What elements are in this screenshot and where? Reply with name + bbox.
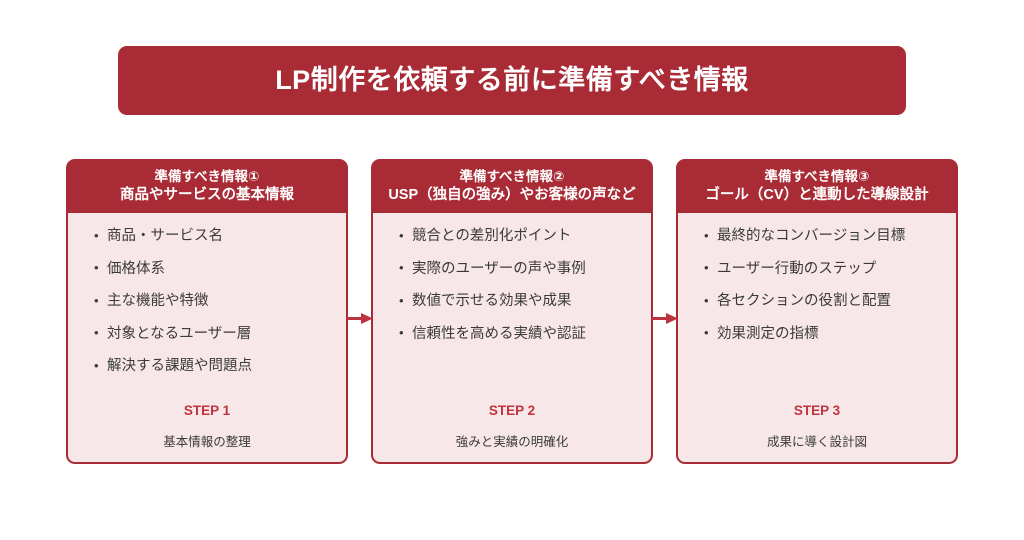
list-item: 各セクションの役割と配置: [704, 292, 942, 312]
step-card-1-step-caption: 基本情報の整理: [78, 436, 336, 449]
list-item: 信頼性を高める実績や認証: [399, 325, 637, 345]
step-card-3-bullet-list: 最終的なコンバージョン目標 ユーザー行動のステップ 各セクションの役割と配置 効…: [678, 227, 956, 344]
step-card-1-footer: STEP 1 基本情報の整理: [68, 404, 346, 450]
step-card-3-header: 準備すべき情報③ ゴール（CV）と連動した導線設計: [676, 159, 958, 213]
arrow-right-icon: [652, 313, 678, 324]
list-item: 最終的なコンバージョン目標: [704, 227, 942, 247]
step-card-3-body: 最終的なコンバージョン目標 ユーザー行動のステップ 各セクションの役割と配置 効…: [676, 213, 958, 464]
step-card-3-header-line2: ゴール（CV）と連動した導線設計: [705, 187, 928, 204]
step-card-2-step-caption: 強みと実績の明確化: [383, 436, 641, 449]
step-card-2-bullet-list: 競合との差別化ポイント 実際のユーザーの声や事例 数値で示せる効果や成果 信頼性…: [373, 227, 651, 344]
list-item: 価格体系: [94, 260, 332, 280]
list-item: 効果測定の指標: [704, 325, 942, 345]
list-item: 解決する課題や問題点: [94, 357, 332, 377]
step-card-1-body: 商品・サービス名 価格体系 主な機能や特徴 対象となるユーザー層 解決する課題や…: [66, 213, 348, 464]
step-card-row: 準備すべき情報① 商品やサービスの基本情報 商品・サービス名 価格体系 主な機能…: [66, 159, 958, 464]
step-card-2-step-label: STEP 2: [383, 404, 641, 418]
step-card-1-header: 準備すべき情報① 商品やサービスの基本情報: [66, 159, 348, 213]
step-card-2-body: 競合との差別化ポイント 実際のユーザーの声や事例 数値で示せる効果や成果 信頼性…: [371, 213, 653, 464]
title-banner: LP制作を依頼する前に準備すべき情報: [118, 46, 906, 115]
page-title: LP制作を依頼する前に準備すべき情報: [275, 67, 749, 94]
list-item: 商品・サービス名: [94, 227, 332, 247]
step-card-2-header-line2: USP（独自の強み）やお客様の声など: [388, 187, 635, 204]
step-card-2: 準備すべき情報② USP（独自の強み）やお客様の声など 競合との差別化ポイント …: [371, 159, 653, 464]
step-card-1: 準備すべき情報① 商品やサービスの基本情報 商品・サービス名 価格体系 主な機能…: [66, 159, 348, 464]
step-card-1-header-line1: 準備すべき情報①: [155, 169, 260, 185]
arrow-right-icon: [347, 313, 373, 324]
step-card-1-step-label: STEP 1: [78, 404, 336, 418]
step-card-2-footer: STEP 2 強みと実績の明確化: [373, 404, 651, 450]
step-card-2-header: 準備すべき情報② USP（独自の強み）やお客様の声など: [371, 159, 653, 213]
step-card-3: 準備すべき情報③ ゴール（CV）と連動した導線設計 最終的なコンバージョン目標 …: [676, 159, 958, 464]
list-item: ユーザー行動のステップ: [704, 260, 942, 280]
list-item: 対象となるユーザー層: [94, 325, 332, 345]
step-card-1-bullet-list: 商品・サービス名 価格体系 主な機能や特徴 対象となるユーザー層 解決する課題や…: [68, 227, 346, 377]
step-card-3-footer: STEP 3 成果に導く設計図: [678, 404, 956, 450]
step-card-3-step-caption: 成果に導く設計図: [688, 436, 946, 449]
list-item: 競合との差別化ポイント: [399, 227, 637, 247]
step-card-2-header-line1: 準備すべき情報②: [460, 169, 565, 185]
step-card-3-header-line1: 準備すべき情報③: [765, 169, 870, 185]
step-card-1-header-line2: 商品やサービスの基本情報: [120, 187, 294, 204]
infographic-canvas: LP制作を依頼する前に準備すべき情報 準備すべき情報① 商品やサービスの基本情報…: [0, 0, 1024, 540]
list-item: 実際のユーザーの声や事例: [399, 260, 637, 280]
list-item: 主な機能や特徴: [94, 292, 332, 312]
list-item: 数値で示せる効果や成果: [399, 292, 637, 312]
step-card-3-step-label: STEP 3: [688, 404, 946, 418]
